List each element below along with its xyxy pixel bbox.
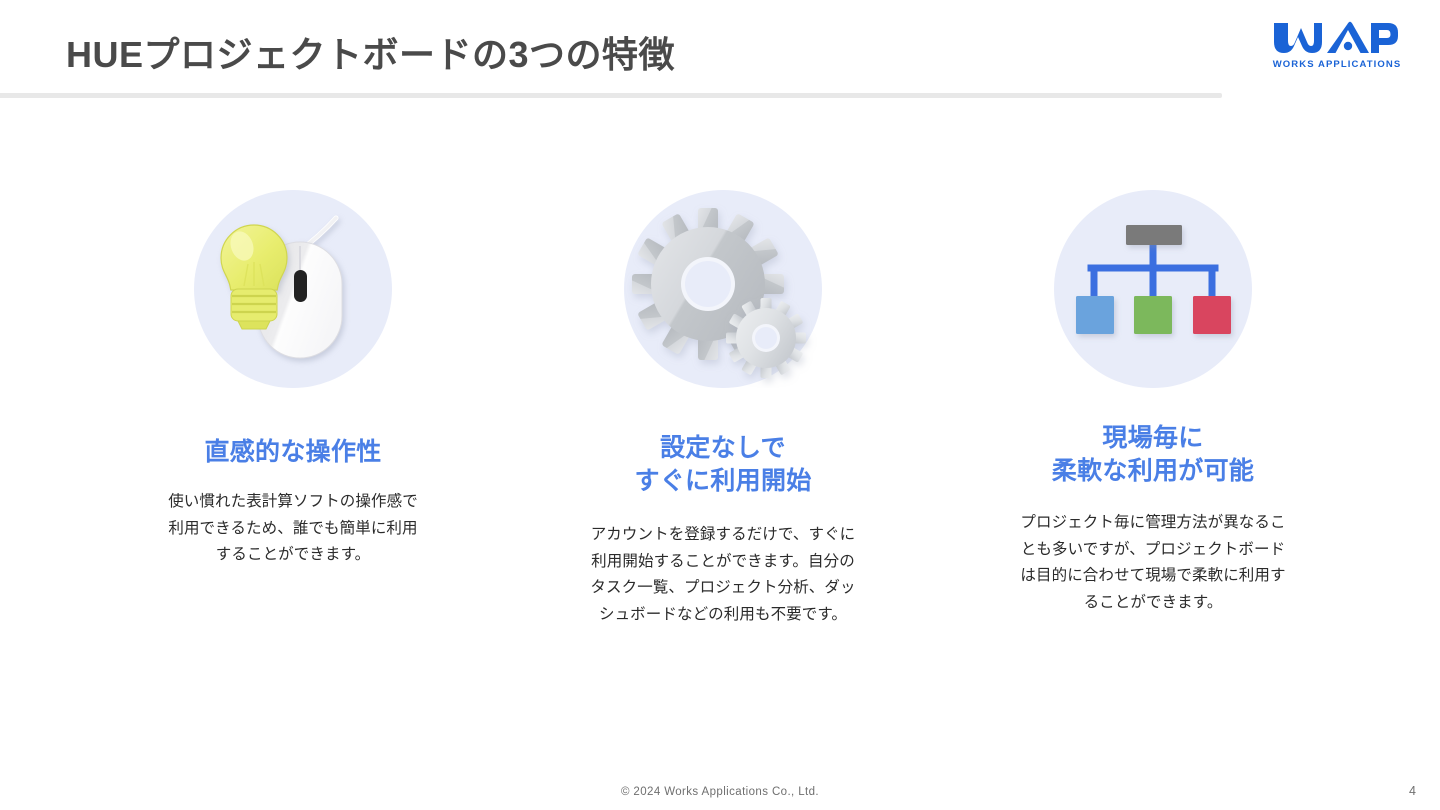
feature-heading-1: 直感的な操作性 (204, 436, 381, 469)
org-chart-icon (1054, 190, 1252, 388)
copyright-notice: © 2024 Works Applications Co., Ltd. (0, 786, 1440, 798)
lightbulb-mouse-icon (194, 190, 392, 388)
feature-columns: 直感的な操作性 使い慣れた表計算ソフトの操作感で利用できるため、誰でも簡単に利用… (0, 190, 1440, 629)
heading-line: 設定なしで (634, 432, 811, 465)
company-logo: WORKS APPLICATIONS (1272, 20, 1402, 76)
feature-body-3: プロジェクト毎に管理方法が異なることも多いですが、プロジェクトボードは目的に合わ… (1019, 510, 1287, 617)
page-title: HUEプロジェクトボードの3つの特徴 (66, 26, 675, 78)
feature-heading-2: 設定なしで すぐに利用開始 (634, 432, 811, 498)
feature-body-2: アカウントを登録するだけで、すぐに利用開始することができます。自分のタスク一覧、… (589, 522, 857, 629)
slide: HUEプロジェクトボードの3つの特徴 WORKS APPLICATIONS (0, 0, 1440, 810)
heading-line: すぐに利用開始 (634, 465, 811, 498)
feature-heading-3: 現場毎に 柔軟な利用が可能 (1052, 422, 1254, 488)
heading-line: 直感的な操作性 (204, 436, 381, 469)
feature-column-1: 直感的な操作性 使い慣れた表計算ソフトの操作感で利用できるため、誰でも簡単に利用… (78, 190, 508, 629)
feature-body-1: 使い慣れた表計算ソフトの操作感で利用できるため、誰でも簡単に利用することができま… (162, 489, 424, 569)
heading-line: 柔軟な利用が可能 (1052, 455, 1254, 488)
logo-subtitle: WORKS APPLICATIONS (1272, 59, 1402, 70)
title-divider (0, 93, 1222, 98)
wap-logomark-icon (1272, 20, 1398, 58)
page-number: 4 (1409, 784, 1416, 798)
feature-column-3: 現場毎に 柔軟な利用が可能 プロジェクト毎に管理方法が異なることも多いですが、プ… (938, 190, 1368, 629)
gears-icon (624, 190, 822, 388)
heading-line: 現場毎に (1052, 422, 1254, 455)
feature-column-2: 設定なしで すぐに利用開始 アカウントを登録するだけで、すぐに利用開始することが… (508, 190, 938, 629)
